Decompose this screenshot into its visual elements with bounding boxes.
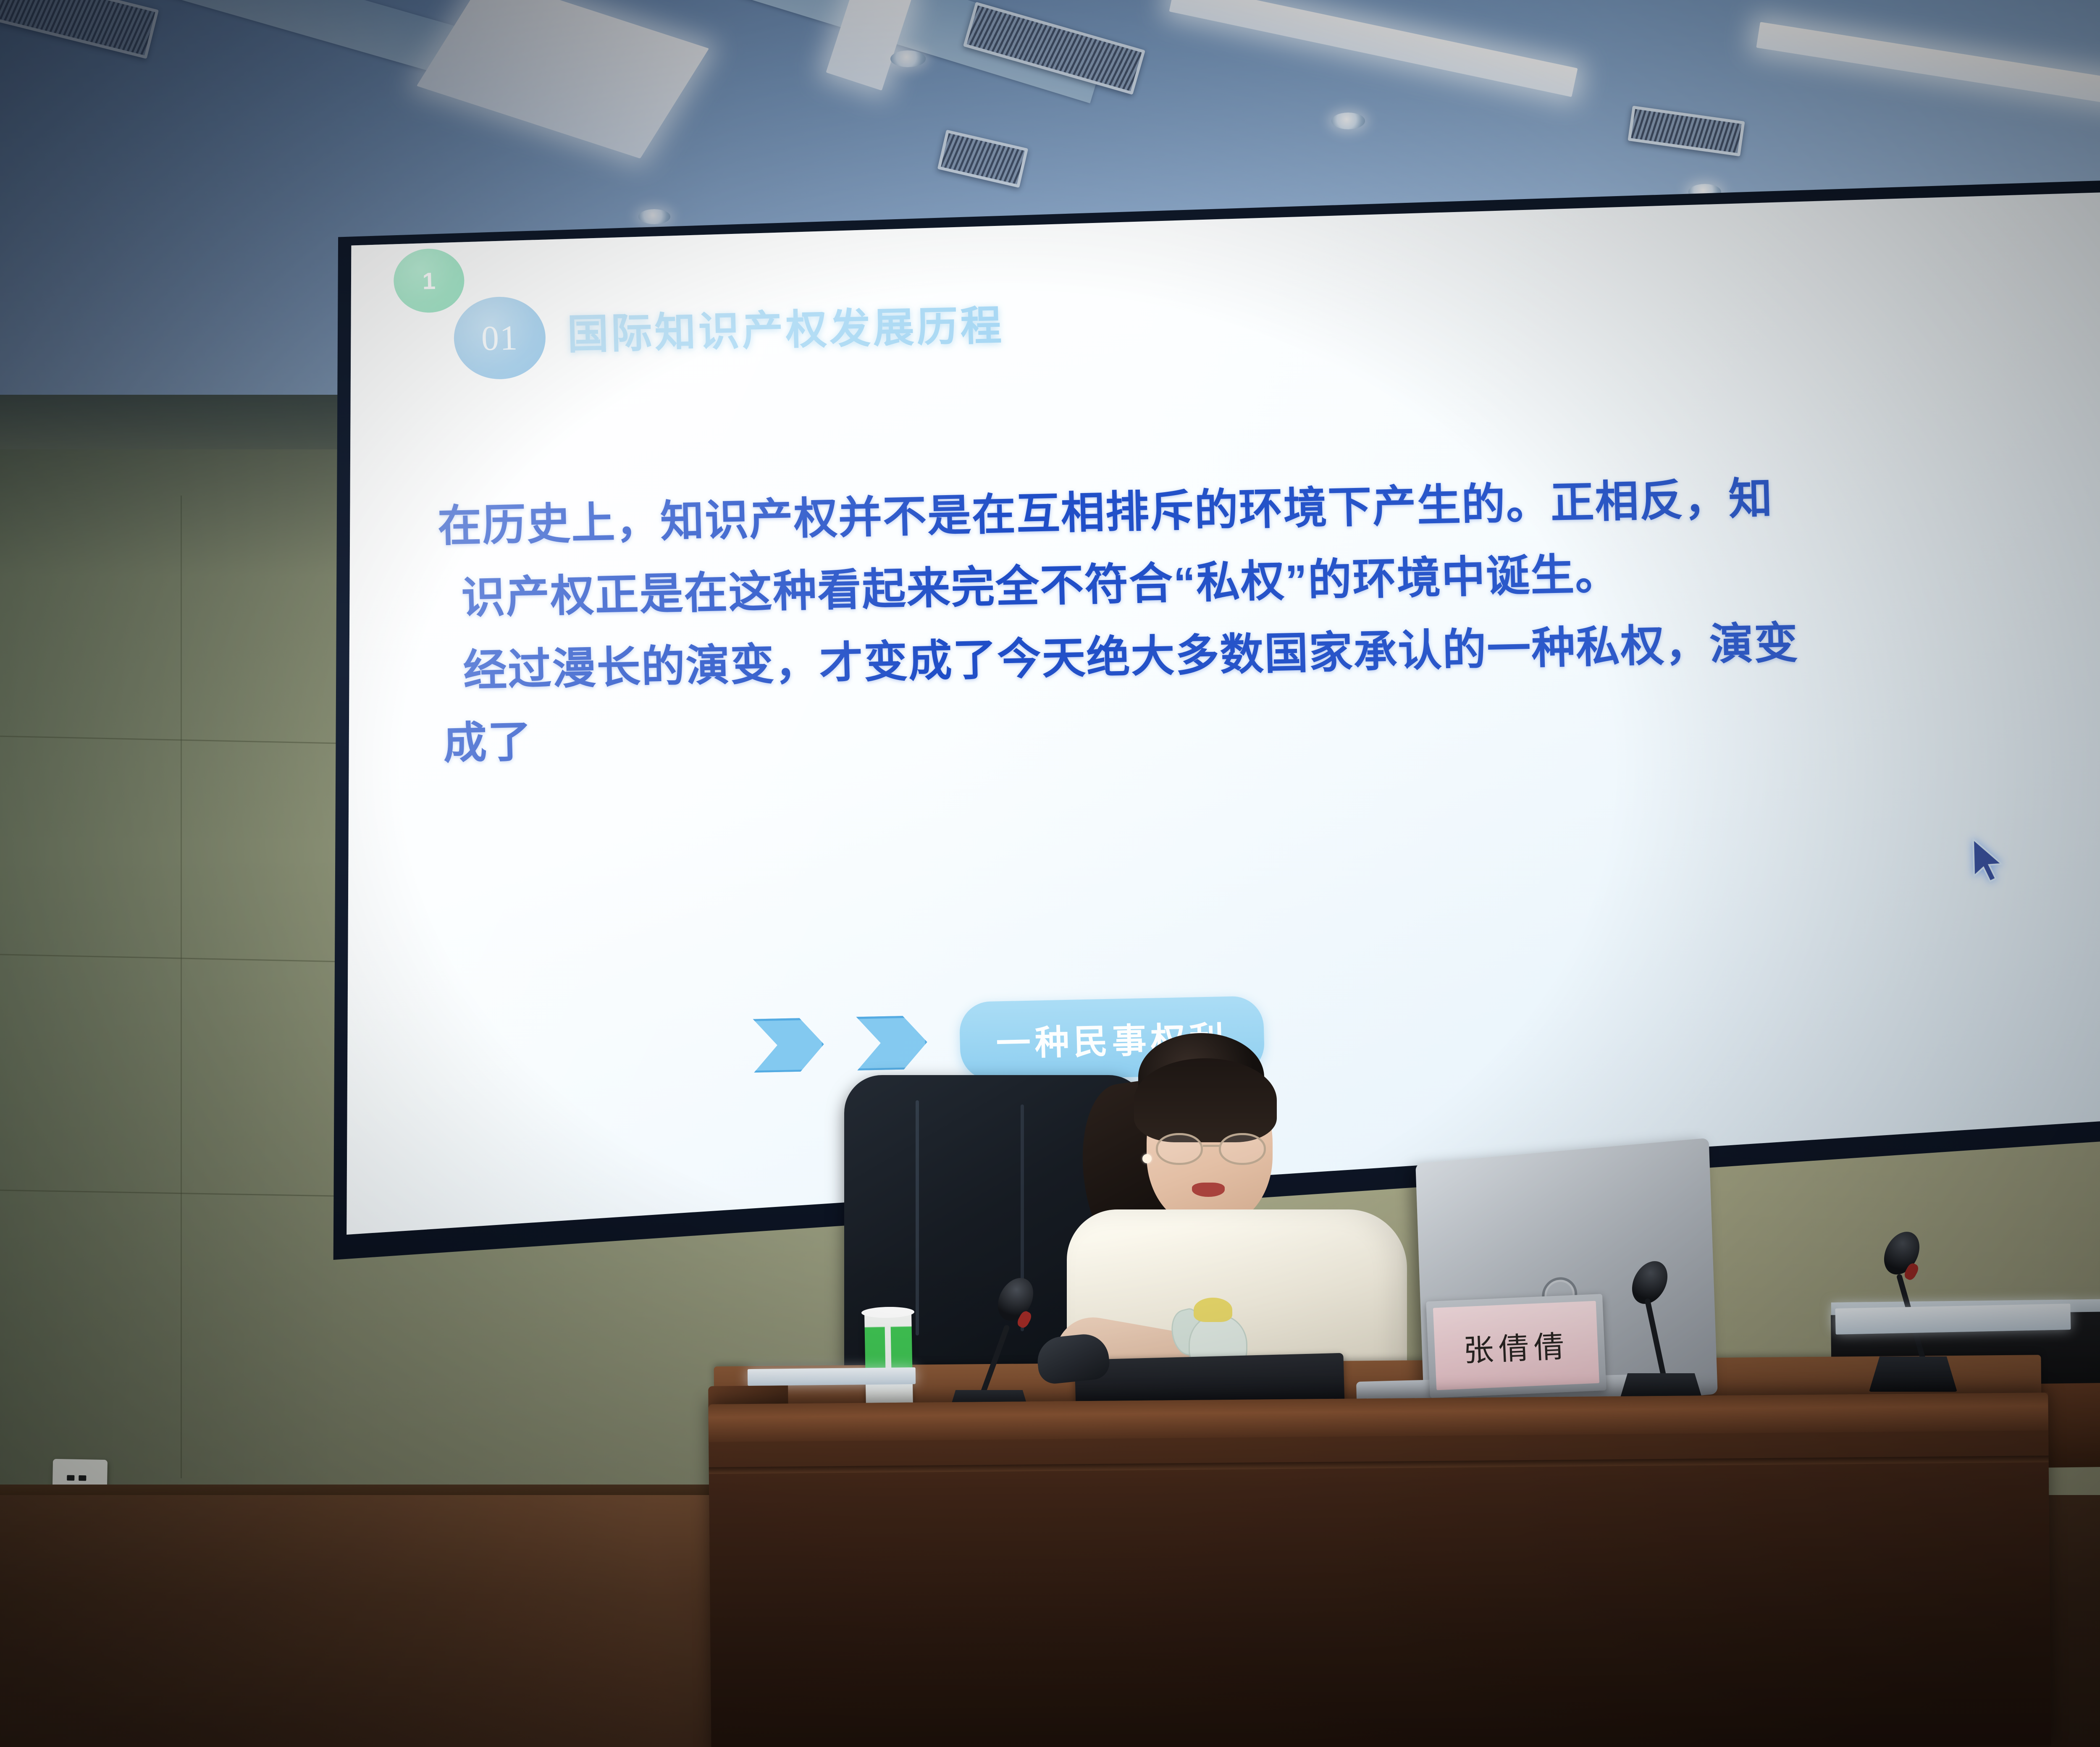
podium-front — [708, 1393, 2051, 1747]
microphone-base-2 — [1869, 1356, 1957, 1392]
desk-light-reflection-left — [1835, 1304, 2071, 1335]
eyeglass-lens-right — [1219, 1133, 1266, 1165]
lecture-hall-scene: 安全出口 EXIT → 1 01 国际知识产权发展历程 在历史上，知识产权 — [0, 0, 2100, 1747]
desk-light-reflection-podium — [748, 1367, 916, 1386]
presenter-mouth — [1192, 1183, 1225, 1197]
slide-section-number: 01 — [481, 317, 519, 359]
eyeglasses-icon — [1156, 1133, 1268, 1165]
podium-groove — [709, 1456, 2049, 1474]
elephant-hat-icon — [1194, 1298, 1232, 1322]
nameplate-card: 张倩倩 — [1433, 1301, 1599, 1390]
earring-icon — [1142, 1154, 1152, 1163]
nameplate: 张倩倩 — [1426, 1294, 1606, 1398]
slide-section-badge: 01 — [453, 296, 546, 380]
chevron-arrow-icon-2 — [856, 1015, 928, 1070]
eyeglass-bridge — [1203, 1145, 1220, 1147]
chair-seam-1 — [916, 1100, 919, 1335]
slide-step-badge: 1 — [393, 248, 465, 313]
slide-body-text: 在历史上，知识产权并不是在互相排斥的环境下产生的。正相反，知 识产权正是在这种看… — [437, 457, 2100, 782]
chevron-arrow-icon-1 — [753, 1018, 824, 1073]
nameplate-name-text: 张倩倩 — [1462, 1321, 1570, 1370]
presenter-hair-front — [1134, 1058, 1277, 1142]
slide-title: 国际知识产权发展历程 — [567, 292, 1005, 361]
eyeglass-lens-left — [1156, 1133, 1203, 1165]
slide-step-number: 1 — [422, 267, 436, 295]
paper-cup[interactable] — [864, 1310, 913, 1411]
